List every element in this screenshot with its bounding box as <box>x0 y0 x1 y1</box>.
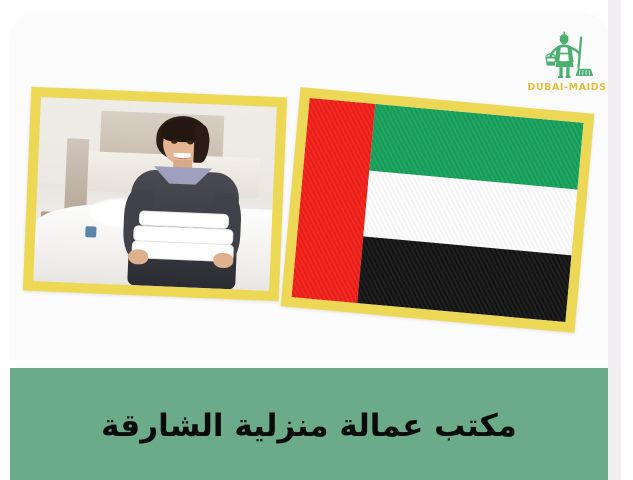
maid-figure <box>118 114 271 291</box>
flag-horizontal-bands <box>357 104 583 322</box>
banner-title: مكتب عمالة منزلية الشارقة <box>101 407 517 446</box>
uae-flag-photo-frame[interactable] <box>281 87 595 333</box>
hair-side <box>194 125 210 163</box>
maid-photo-frame[interactable] <box>23 87 287 302</box>
brand-wordmark: DUBAI-MAIDS <box>527 83 606 93</box>
brand-logo[interactable]: DUBAI-MAIDS <box>519 30 615 110</box>
poster-canvas: DUBAI-MAIDS مكتب عمالة منزلية الشارقة <box>0 0 633 480</box>
maid-holding-towels-photo <box>33 97 276 291</box>
uae-flag-photo <box>292 98 584 322</box>
bedside-object <box>85 226 97 238</box>
uae-flag <box>292 98 584 322</box>
maid-with-bucket-and-broom-icon <box>538 30 596 82</box>
page-right-margin <box>621 0 633 480</box>
lamp-column <box>64 139 88 213</box>
caption-banner: مكتب عمالة منزلية الشارقة <box>10 368 608 480</box>
